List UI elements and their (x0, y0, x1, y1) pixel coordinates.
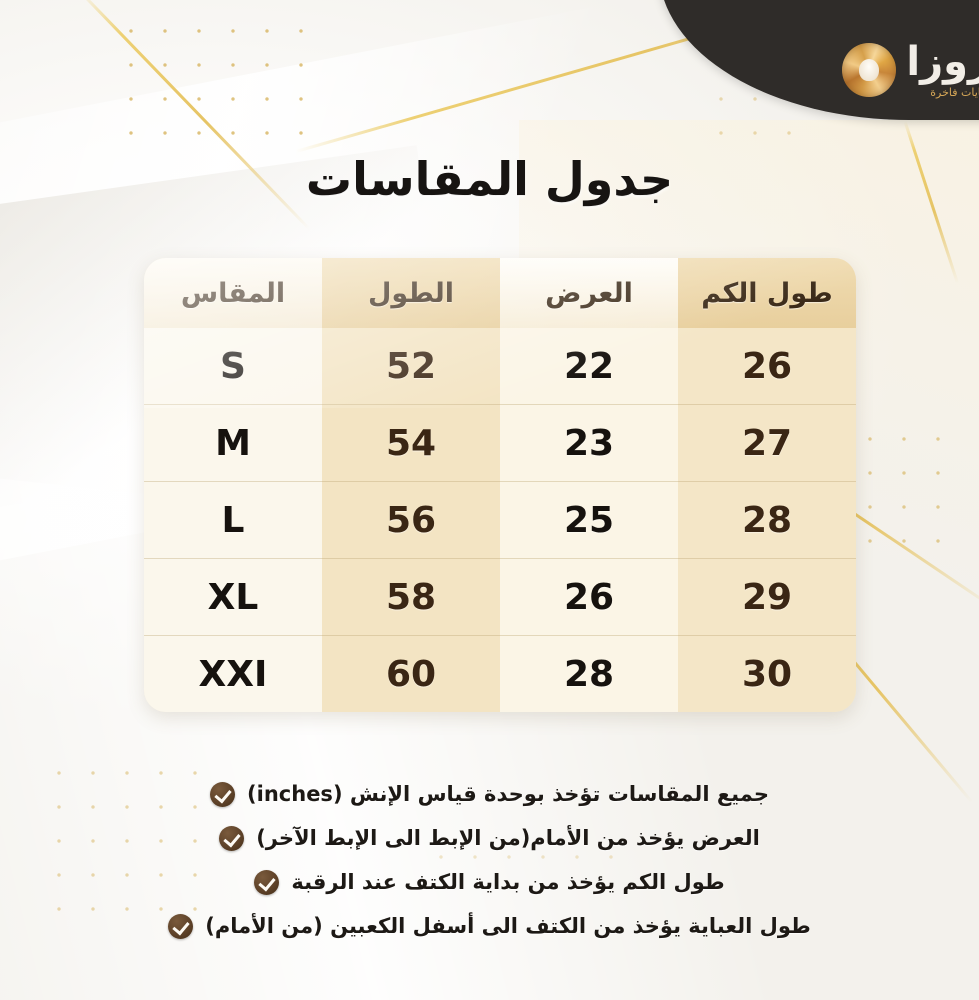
cell-size: L (144, 482, 322, 559)
brand-name: روزا (906, 42, 979, 82)
cell-width: 25 (500, 482, 678, 559)
cell-width: 26 (500, 559, 678, 636)
table-header-row: طول الكم العرض الطول المقاس (144, 258, 856, 328)
note-item: العرض يؤخذ من الأمام(من الإبط الى الإبط … (0, 816, 979, 860)
size-table-container: طول الكم العرض الطول المقاس 26 22 52 S 2… (144, 258, 856, 712)
notes-list: جميع المقاسات تؤخذ بوحدة قياس الإنش (inc… (0, 772, 979, 948)
cell-sleeve-length: 29 (678, 559, 856, 636)
cell-sleeve-length: 26 (678, 328, 856, 405)
note-item: جميع المقاسات تؤخذ بوحدة قياس الإنش (inc… (0, 772, 979, 816)
cell-sleeve-length: 30 (678, 636, 856, 713)
check-circle-icon (219, 826, 244, 851)
column-header-length: الطول (322, 258, 500, 328)
check-circle-icon (168, 914, 193, 939)
size-table-head: طول الكم العرض الطول المقاس (144, 258, 856, 328)
note-text: طول الكم يؤخذ من بداية الكتف عند الرقبة (291, 870, 724, 894)
cell-length: 56 (322, 482, 500, 559)
size-table: طول الكم العرض الطول المقاس 26 22 52 S 2… (144, 258, 856, 712)
note-text: العرض يؤخذ من الأمام(من الإبط الى الإبط … (256, 826, 760, 850)
cell-size: M (144, 405, 322, 482)
cell-length: 54 (322, 405, 500, 482)
brand-logo: روزا عبايات فاخرة (842, 42, 979, 98)
table-row: 30 28 60 XXI (144, 636, 856, 713)
note-text: جميع المقاسات تؤخذ بوحدة قياس الإنش (inc… (247, 782, 769, 806)
table-row: 28 25 56 L (144, 482, 856, 559)
brand-band: روزا عبايات فاخرة (659, 0, 979, 120)
brand-text: روزا عبايات فاخرة (906, 42, 979, 98)
table-row: 26 22 52 S (144, 328, 856, 405)
cell-width: 22 (500, 328, 678, 405)
cell-sleeve-length: 27 (678, 405, 856, 482)
note-item: طول الكم يؤخذ من بداية الكتف عند الرقبة (0, 860, 979, 904)
cell-size: S (144, 328, 322, 405)
column-header-size: المقاس (144, 258, 322, 328)
check-circle-icon (254, 870, 279, 895)
table-row: 29 26 58 XL (144, 559, 856, 636)
page-title: جدول المقاسات (0, 152, 979, 206)
cell-size: XXI (144, 636, 322, 713)
note-text: طول العباية يؤخذ من الكتف الى أسفل الكعب… (205, 914, 811, 938)
cell-size: XL (144, 559, 322, 636)
size-table-body: 26 22 52 S 27 23 54 M 28 25 56 L (144, 328, 856, 712)
column-header-width: العرض (500, 258, 678, 328)
cell-sleeve-length: 28 (678, 482, 856, 559)
column-header-sleeve-length: طول الكم (678, 258, 856, 328)
size-chart-page: روزا عبايات فاخرة جدول المقاسات طول الكم… (0, 0, 979, 1000)
dot-grid-top-left (110, 10, 310, 140)
brand-tagline: عبايات فاخرة (930, 87, 979, 98)
note-item: طول العباية يؤخذ من الكتف الى أسفل الكعب… (0, 904, 979, 948)
cell-length: 58 (322, 559, 500, 636)
cell-length: 60 (322, 636, 500, 713)
cell-width: 28 (500, 636, 678, 713)
rose-swirl-icon (842, 43, 896, 97)
table-row: 27 23 54 M (144, 405, 856, 482)
check-circle-icon (210, 782, 235, 807)
cell-width: 23 (500, 405, 678, 482)
cell-length: 52 (322, 328, 500, 405)
